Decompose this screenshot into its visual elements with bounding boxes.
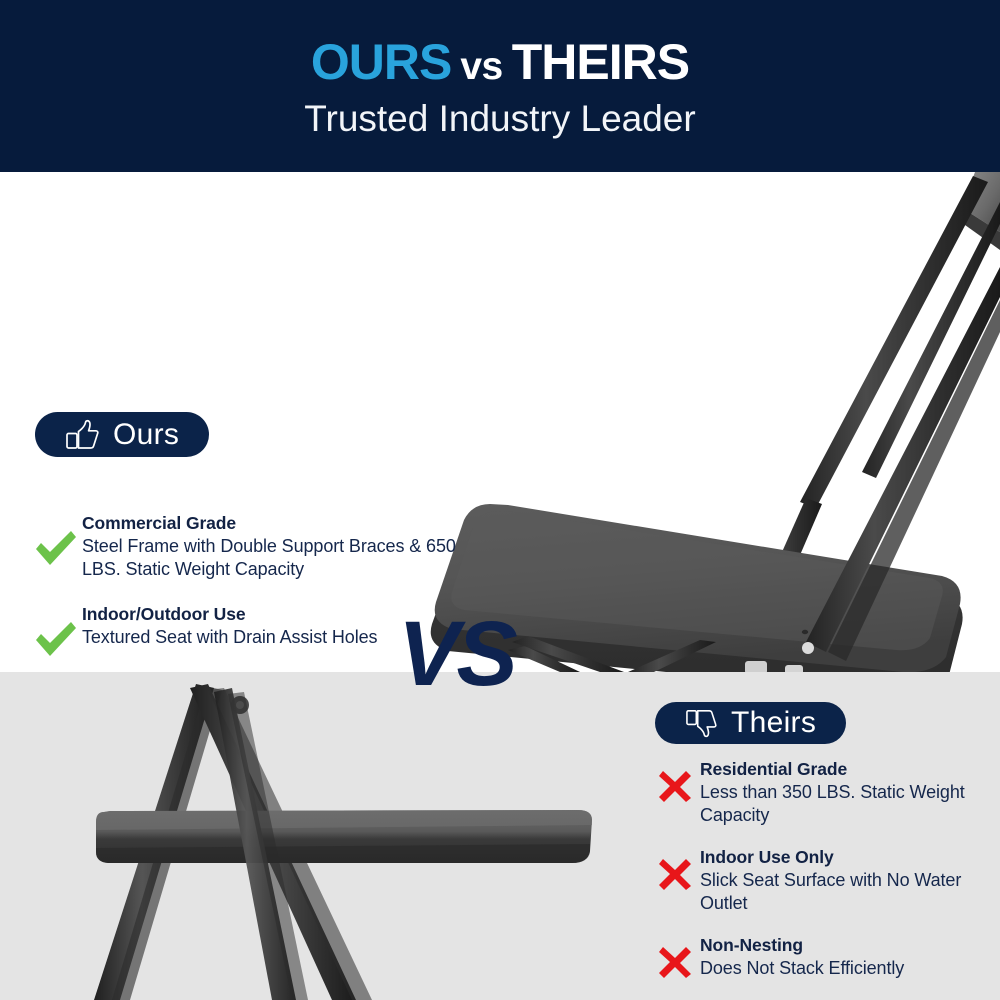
theirs-feature-item: Non-Nesting Does Not Stack Efficiently <box>650 934 990 980</box>
check-mark-wrap <box>30 603 82 659</box>
x-mark-wrap <box>650 934 700 980</box>
theirs-feature-list: Residential Grade Less than 350 LBS. Sta… <box>650 758 990 999</box>
theirs-section: Theirs Residential Grade Less than 350 L… <box>0 672 1000 1000</box>
header-title-vs: vs <box>460 45 502 89</box>
vs-divider-label: VS <box>398 608 515 700</box>
red-x-icon <box>657 944 693 980</box>
red-x-icon <box>657 856 693 892</box>
thumbs-down-icon <box>685 708 717 738</box>
feature-text: Indoor Use Only Slick Seat Surface with … <box>700 846 990 915</box>
x-mark-wrap <box>650 846 700 892</box>
red-x-icon <box>657 768 693 804</box>
thumbs-up-icon <box>65 419 99 451</box>
header-title-theirs: THEIRS <box>512 33 689 91</box>
feature-title: Non-Nesting <box>700 934 990 957</box>
ours-badge-label: Ours <box>113 418 179 452</box>
ours-feature-list: Commercial Grade Steel Frame with Double… <box>30 512 460 672</box>
theirs-feature-item: Indoor Use Only Slick Seat Surface with … <box>650 846 990 915</box>
green-check-icon <box>33 528 79 568</box>
feature-desc: Steel Frame with Double Support Braces &… <box>82 535 460 581</box>
check-mark-wrap <box>30 512 82 568</box>
ours-feature-item: Indoor/Outdoor Use Textured Seat with Dr… <box>30 603 460 659</box>
header-title-ours: OURS <box>311 33 451 91</box>
header-subtitle: Trusted Industry Leader <box>304 98 695 140</box>
feature-text: Residential Grade Less than 350 LBS. Sta… <box>700 758 990 827</box>
theirs-badge: Theirs <box>655 702 846 744</box>
feature-title: Residential Grade <box>700 758 990 781</box>
feature-desc: Does Not Stack Efficiently <box>700 957 990 980</box>
ours-badge: Ours <box>35 412 209 457</box>
theirs-feature-item: Residential Grade Less than 350 LBS. Sta… <box>650 758 990 827</box>
theirs-badge-label: Theirs <box>731 706 816 740</box>
x-mark-wrap <box>650 758 700 804</box>
feature-text: Non-Nesting Does Not Stack Efficiently <box>700 934 990 980</box>
feature-title: Indoor Use Only <box>700 846 990 869</box>
feature-text: Commercial Grade Steel Frame with Double… <box>82 512 460 581</box>
ours-section: Ours Commercial Grade Steel Frame with D… <box>0 172 1000 672</box>
feature-desc: Less than 350 LBS. Static Weight Capacit… <box>700 781 990 827</box>
header-banner: OURS vs THEIRS Trusted Industry Leader <box>0 0 1000 172</box>
green-check-icon <box>33 619 79 659</box>
ours-feature-item: Commercial Grade Steel Frame with Double… <box>30 512 460 581</box>
feature-title: Commercial Grade <box>82 512 460 535</box>
feature-desc: Slick Seat Surface with No Water Outlet <box>700 869 990 915</box>
header-title: OURS vs THEIRS <box>311 33 689 91</box>
infographic-canvas: Ours Commercial Grade Steel Frame with D… <box>0 0 1000 1000</box>
